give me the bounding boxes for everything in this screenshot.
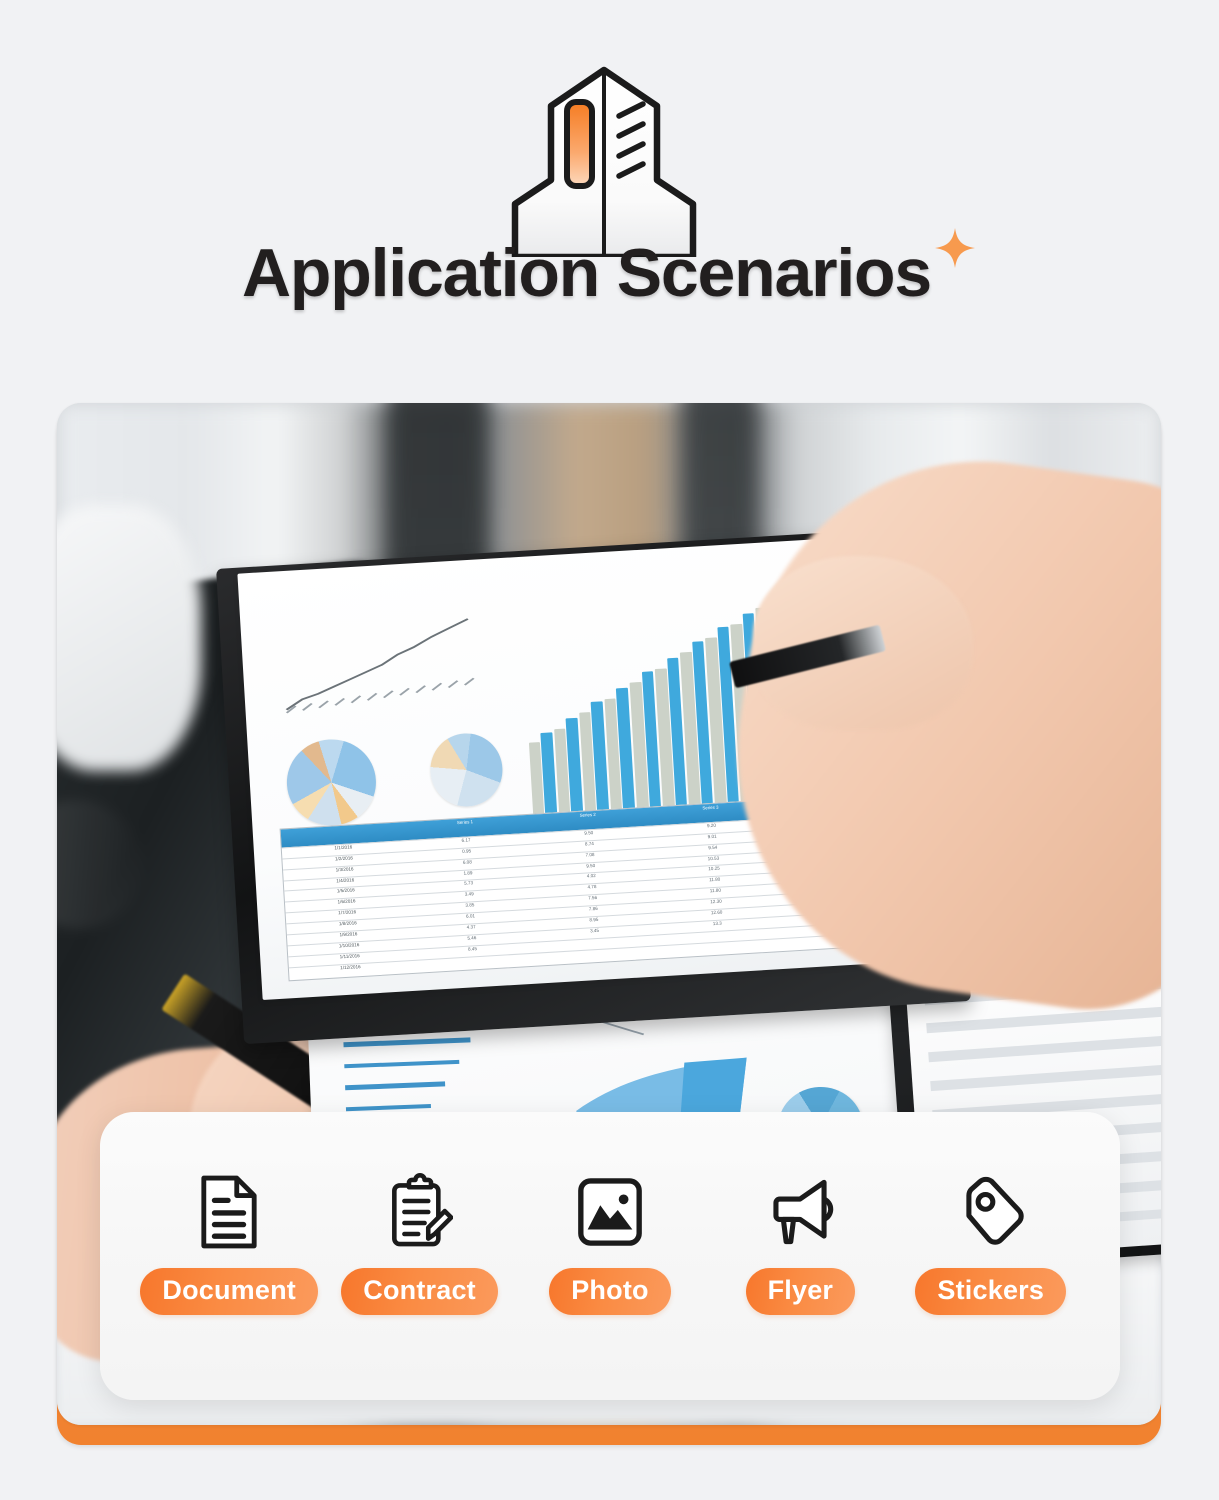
scenario-card: Document <box>100 1112 1120 1400</box>
sparkle-icon <box>933 226 977 270</box>
scenario-item-document[interactable]: Document <box>136 1166 322 1315</box>
building-tower-icon <box>497 62 712 257</box>
scenario-label-document[interactable]: Document <box>140 1268 318 1315</box>
report-pie-chart-b <box>429 732 505 809</box>
page-header: Application Scenarios <box>0 0 1219 400</box>
document-icon <box>198 1166 260 1258</box>
contract-clipboard-pencil-icon <box>387 1166 453 1258</box>
report-pie-chart-a <box>285 737 379 828</box>
white-shirt <box>57 505 201 771</box>
scenario-label-stickers[interactable]: Stickers <box>915 1268 1066 1315</box>
application-scenarios-page: Application Scenarios <box>0 0 1219 1500</box>
suit-fold-highlight <box>57 779 161 948</box>
price-tag-icon <box>956 1166 1026 1258</box>
photo-image-icon <box>575 1166 645 1258</box>
report-line-chart <box>274 609 512 717</box>
scenario-item-photo[interactable]: Photo <box>517 1166 703 1315</box>
megaphone-flyer-icon <box>763 1166 837 1258</box>
scenario-label-flyer[interactable]: Flyer <box>746 1268 856 1315</box>
scenario-item-stickers[interactable]: Stickers <box>898 1166 1084 1315</box>
page-title-row: Application Scenarios <box>0 238 1219 309</box>
scenario-item-contract[interactable]: Contract <box>327 1166 513 1315</box>
page-title: Application Scenarios <box>242 238 931 309</box>
scenario-icon-row: Document <box>100 1166 1120 1315</box>
scenario-label-photo[interactable]: Photo <box>549 1268 670 1315</box>
scenario-label-contract[interactable]: Contract <box>341 1268 498 1315</box>
scenario-item-flyer[interactable]: Flyer <box>707 1166 893 1315</box>
